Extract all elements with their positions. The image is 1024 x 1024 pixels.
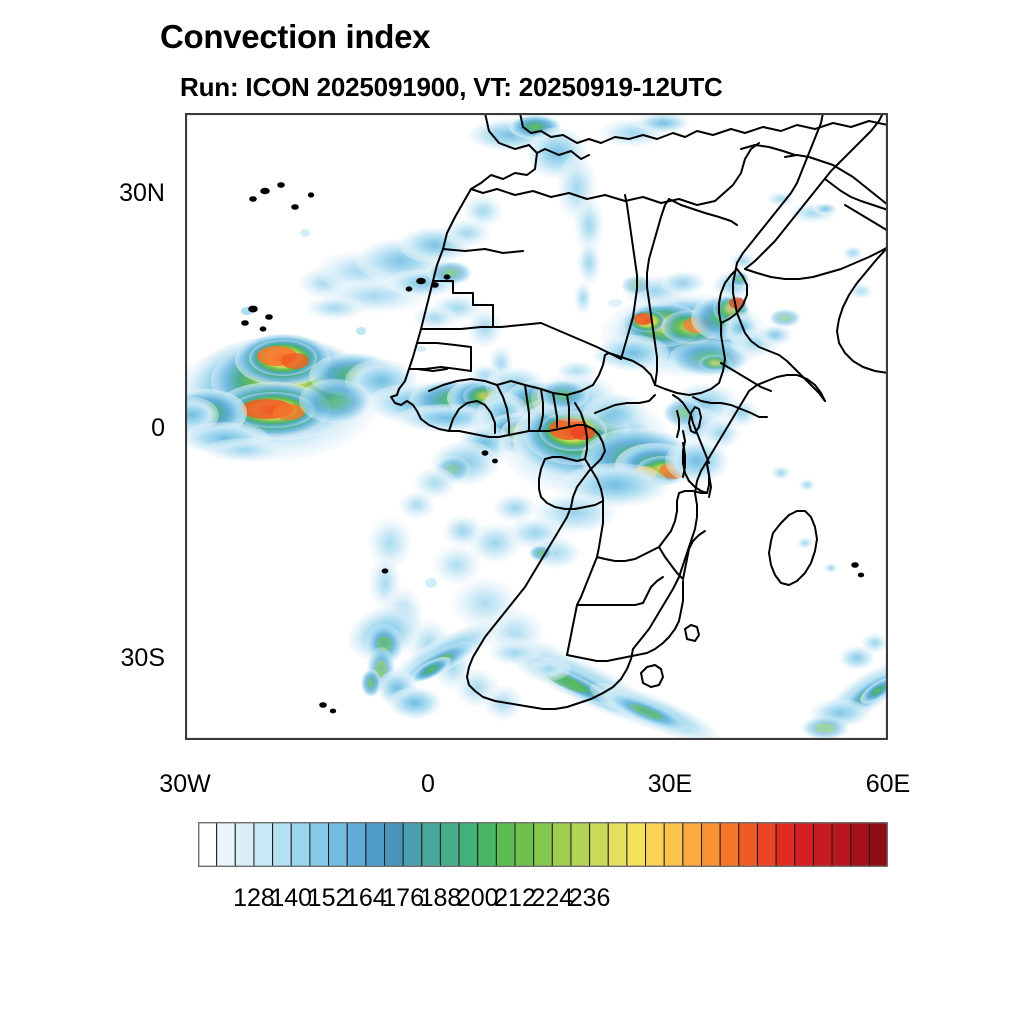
colorbar-cell — [347, 822, 366, 867]
colorbar-cell — [776, 822, 795, 867]
colorbar-cell — [496, 822, 515, 867]
ytick-label-30n: 30N — [95, 179, 165, 208]
colorbar-cell — [403, 822, 422, 867]
ytick-label-30s: 30S — [95, 644, 165, 673]
colorbar-cell — [366, 822, 385, 867]
xtick-label-30e: 30E — [630, 770, 710, 799]
colorbar-cell — [217, 822, 236, 867]
xtick-label-60e: 60E — [848, 770, 928, 799]
colorbar-cell — [795, 822, 814, 867]
xtick-label-30w: 30W — [145, 770, 225, 799]
colorbar-cell — [702, 822, 721, 867]
colorbar-cell — [459, 822, 478, 867]
colorbar-cell — [478, 822, 497, 867]
colorbar-cell — [683, 822, 702, 867]
colorbar-cell — [627, 822, 646, 867]
colorbar-cell — [310, 822, 329, 867]
figure-root: Convection index Run: ICON 2025091900, V… — [0, 0, 1024, 1024]
map-plot-area — [185, 113, 888, 740]
colorbar — [198, 822, 888, 867]
colorbar-cell — [590, 822, 609, 867]
ytick-label-0: 0 — [95, 414, 165, 443]
run-valid-time-subtitle: Run: ICON 2025091900, VT: 20250919-12UTC — [180, 72, 723, 103]
colorbar-cell — [273, 822, 292, 867]
colorbar-cell — [440, 822, 459, 867]
colorbar-cell — [757, 822, 776, 867]
colorbar-cell — [534, 822, 553, 867]
colorbar-cell — [254, 822, 273, 867]
colorbar-cell — [832, 822, 851, 867]
colorbar-cell — [571, 822, 590, 867]
colorbar-cell — [235, 822, 254, 867]
colorbar-cell — [515, 822, 534, 867]
xtick-label-0: 0 — [388, 770, 468, 799]
colorbar-cell — [552, 822, 571, 867]
colorbar-cell — [646, 822, 665, 867]
colorbar-cell — [608, 822, 627, 867]
colorbar-cell — [384, 822, 403, 867]
colorbar-tick-label: 236 — [550, 884, 630, 913]
colorbar-cell — [851, 822, 870, 867]
colorbar-cell — [422, 822, 441, 867]
colorbar-cell — [813, 822, 832, 867]
colorbar-cell — [198, 822, 217, 867]
colorbar-cell — [329, 822, 348, 867]
colorbar-cells — [198, 822, 888, 867]
colorbar-cell — [291, 822, 310, 867]
colorbar-cell — [720, 822, 739, 867]
colorbar-cell — [664, 822, 683, 867]
colorbar-cell — [739, 822, 758, 867]
page-title: Convection index — [160, 18, 430, 56]
colorbar-cell — [869, 822, 888, 867]
